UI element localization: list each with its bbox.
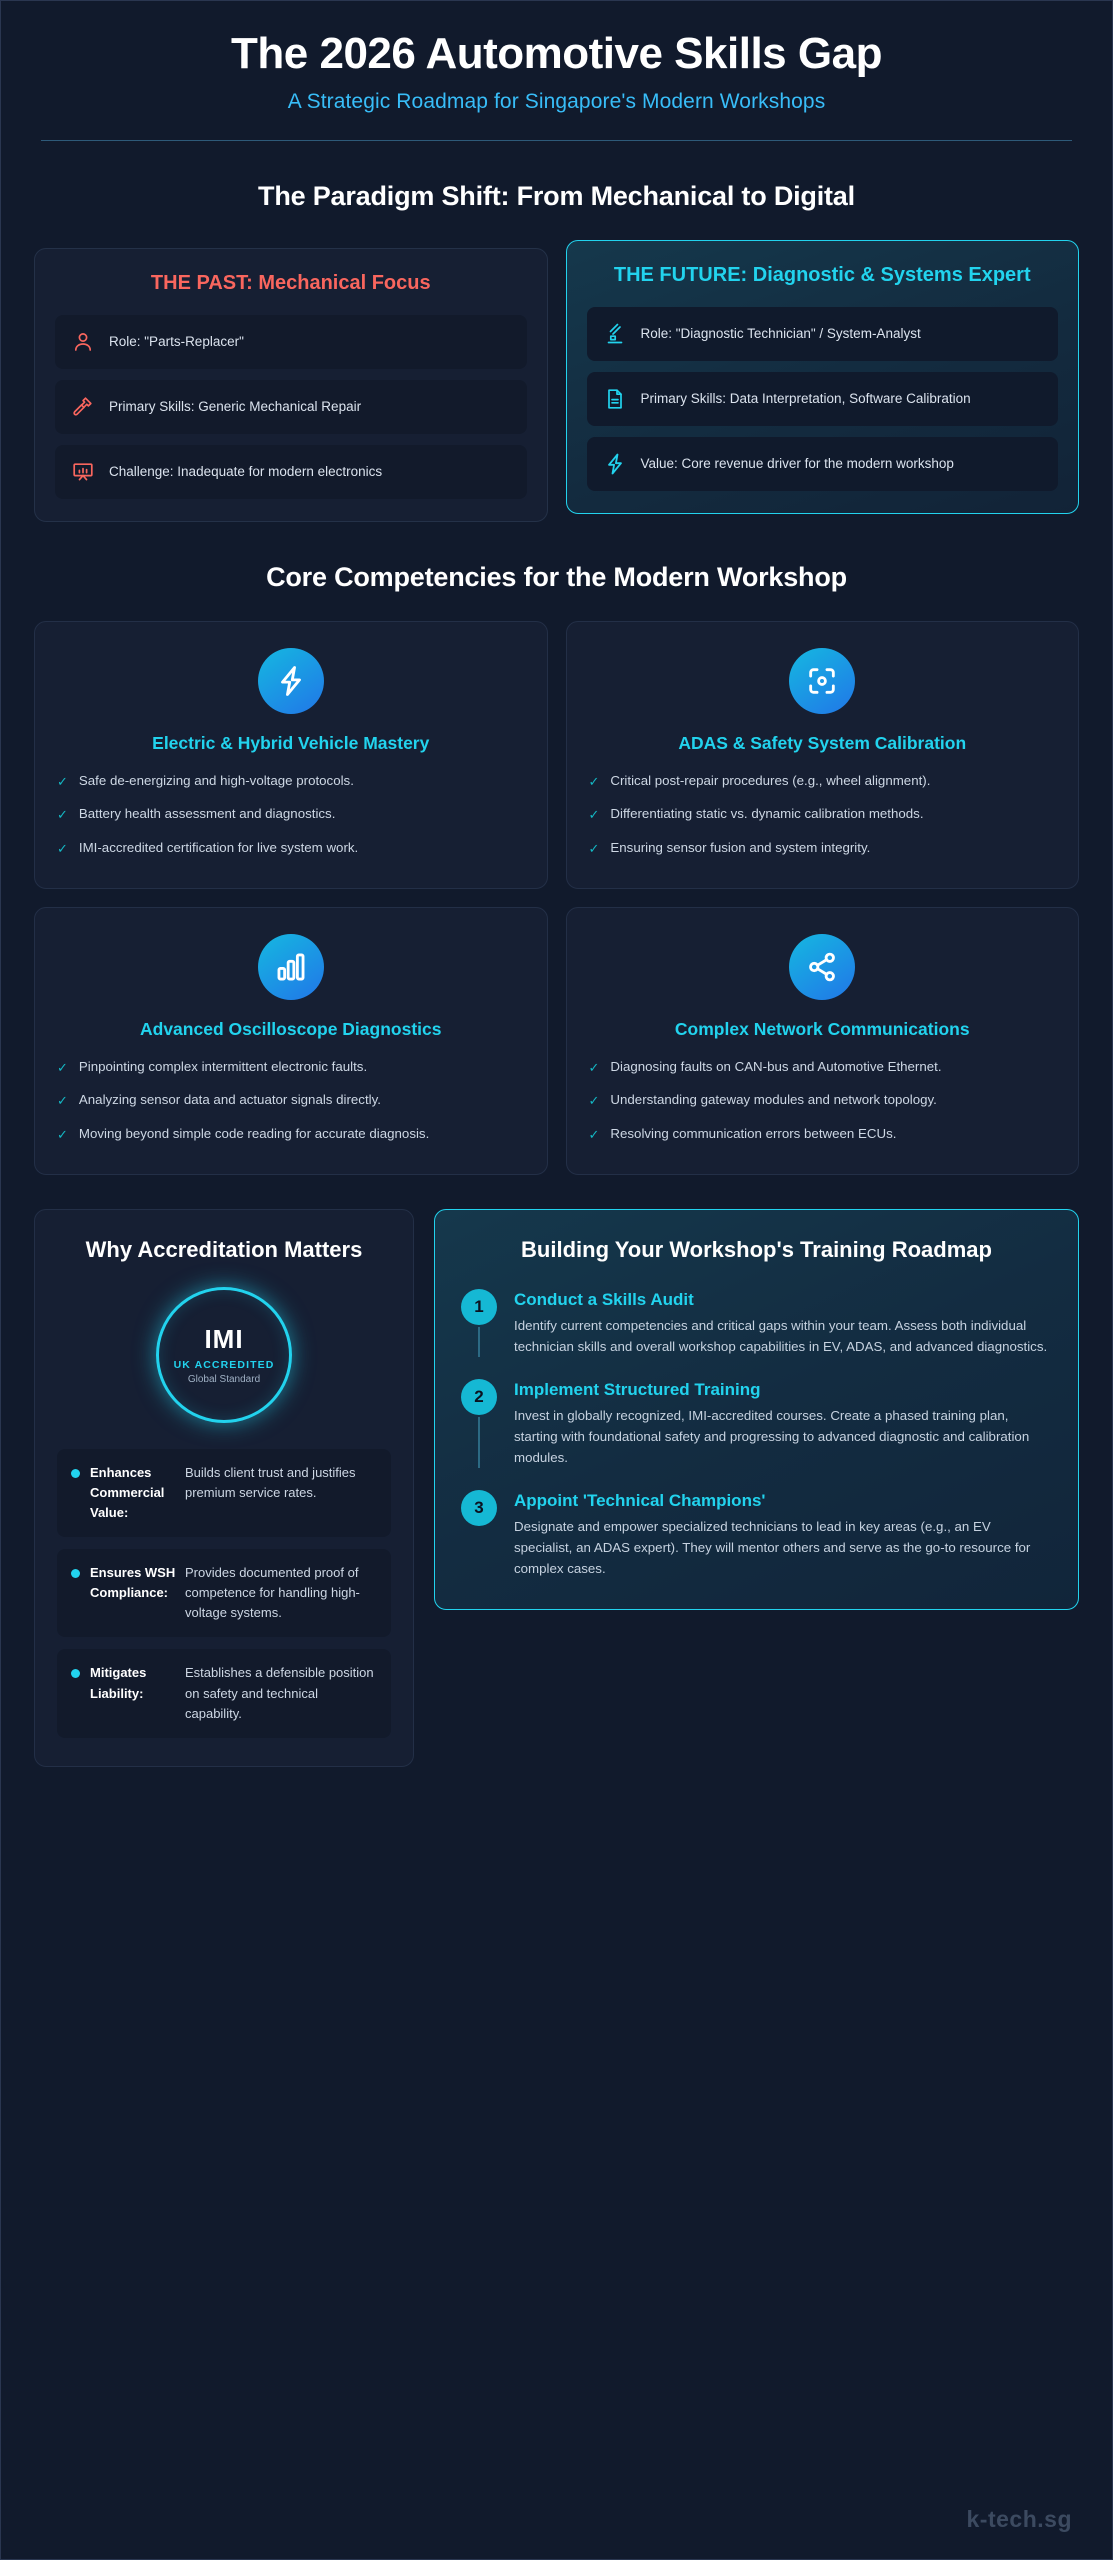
accreditation-title: Why Accreditation Matters bbox=[57, 1236, 391, 1264]
page-title: The 2026 Automotive Skills Gap bbox=[41, 29, 1072, 78]
roadmap-title: Building Your Workshop's Training Roadma… bbox=[461, 1236, 1052, 1265]
accreditation-item-label: Mitigates Liability: bbox=[90, 1663, 185, 1723]
competency-title: Electric & Hybrid Vehicle Mastery bbox=[57, 732, 525, 755]
step-title: Conduct a Skills Audit bbox=[514, 1290, 1052, 1310]
point-text: Differentiating static vs. dynamic calib… bbox=[610, 804, 923, 824]
check-icon: ✓ bbox=[589, 771, 600, 792]
paradigm-section-title: The Paradigm Shift: From Mechanical to D… bbox=[34, 181, 1079, 212]
step-description: Invest in globally recognized, IMI-accre… bbox=[514, 1405, 1052, 1468]
point-text: Understanding gateway modules and networ… bbox=[610, 1090, 936, 1110]
past-item-label: Role: "Parts-Replacer" bbox=[109, 332, 244, 351]
point-text: Diagnosing faults on CAN-bus and Automot… bbox=[610, 1057, 941, 1077]
check-icon: ✓ bbox=[57, 771, 68, 792]
future-item-role: Role: "Diagnostic Technician" / System-A… bbox=[587, 307, 1059, 361]
camera-sensor-icon bbox=[789, 648, 855, 714]
watermark: k-tech.sg bbox=[967, 2506, 1072, 2533]
header-divider bbox=[41, 140, 1072, 141]
point-text: IMI-accredited certification for live sy… bbox=[79, 838, 358, 858]
point-text: Ensuring sensor fusion and system integr… bbox=[610, 838, 870, 858]
point-text: Pinpointing complex intermittent electro… bbox=[79, 1057, 367, 1077]
accreditation-item-label: Enhances Commercial Value: bbox=[90, 1463, 185, 1523]
future-item-label: Primary Skills: Data Interpretation, Sof… bbox=[641, 389, 971, 408]
past-item-role: Role: "Parts-Replacer" bbox=[55, 315, 527, 369]
imi-badge: IMI UK ACCREDITED Global Standard bbox=[156, 1287, 292, 1423]
accreditation-item-desc: Establishes a defensible position on saf… bbox=[185, 1663, 377, 1723]
accreditation-panel: Why Accreditation Matters IMI UK ACCREDI… bbox=[34, 1209, 414, 1766]
check-icon: ✓ bbox=[589, 1124, 600, 1145]
future-item-label: Value: Core revenue driver for the moder… bbox=[641, 454, 954, 473]
competency-card-adas: ADAS & Safety System Calibration ✓Critic… bbox=[566, 621, 1080, 889]
check-icon: ✓ bbox=[589, 1090, 600, 1111]
step-connector bbox=[478, 1327, 480, 1357]
document-icon bbox=[603, 387, 627, 411]
bullet-dot-icon bbox=[71, 1569, 80, 1578]
list-item: ✓Pinpointing complex intermittent electr… bbox=[57, 1057, 525, 1078]
bottom-row: Why Accreditation Matters IMI UK ACCREDI… bbox=[34, 1209, 1079, 1766]
bolt-icon bbox=[603, 452, 627, 476]
accreditation-item: Ensures WSH Compliance: Provides documen… bbox=[57, 1549, 391, 1637]
competencies-section-title: Core Competencies for the Modern Worksho… bbox=[34, 562, 1079, 593]
competency-points: ✓Safe de-energizing and high-voltage pro… bbox=[57, 771, 525, 859]
step-title: Appoint 'Technical Champions' bbox=[514, 1491, 1052, 1511]
past-item-skills: Primary Skills: Generic Mechanical Repai… bbox=[55, 380, 527, 434]
competency-points: ✓Diagnosing faults on CAN-bus and Automo… bbox=[589, 1057, 1057, 1145]
microscope-icon bbox=[603, 322, 627, 346]
point-text: Moving beyond simple code reading for ac… bbox=[79, 1124, 429, 1144]
header: The 2026 Automotive Skills Gap A Strateg… bbox=[1, 1, 1112, 141]
step-number: 1 bbox=[461, 1289, 497, 1325]
check-icon: ✓ bbox=[57, 1090, 68, 1111]
list-item: ✓Diagnosing faults on CAN-bus and Automo… bbox=[589, 1057, 1057, 1078]
roadmap-step-3: 3 Appoint 'Technical Champions' Designat… bbox=[461, 1490, 1052, 1579]
competency-title: ADAS & Safety System Calibration bbox=[589, 732, 1057, 755]
check-icon: ✓ bbox=[57, 804, 68, 825]
competency-card-ev: Electric & Hybrid Vehicle Mastery ✓Safe … bbox=[34, 621, 548, 889]
user-icon bbox=[71, 330, 95, 354]
competency-title: Complex Network Communications bbox=[589, 1018, 1057, 1041]
competency-card-network: Complex Network Communications ✓Diagnosi… bbox=[566, 907, 1080, 1175]
step-number: 2 bbox=[461, 1379, 497, 1415]
future-card: THE FUTURE: Diagnostic & Systems Expert … bbox=[566, 240, 1080, 514]
accreditation-item-label: Ensures WSH Compliance: bbox=[90, 1563, 185, 1623]
competency-card-oscilloscope: Advanced Oscilloscope Diagnostics ✓Pinpo… bbox=[34, 907, 548, 1175]
list-item: ✓Battery health assessment and diagnosti… bbox=[57, 804, 525, 825]
check-icon: ✓ bbox=[589, 838, 600, 859]
competencies-grid: Electric & Hybrid Vehicle Mastery ✓Safe … bbox=[34, 621, 1079, 1176]
future-card-title: THE FUTURE: Diagnostic & Systems Expert bbox=[587, 263, 1059, 289]
past-item-label: Challenge: Inadequate for modern electro… bbox=[109, 462, 382, 481]
competency-points: ✓Critical post-repair procedures (e.g., … bbox=[589, 771, 1057, 859]
check-icon: ✓ bbox=[57, 1124, 68, 1145]
accreditation-item-desc: Provides documented proof of competence … bbox=[185, 1563, 377, 1623]
list-item: ✓Critical post-repair procedures (e.g., … bbox=[589, 771, 1057, 792]
page-subtitle: A Strategic Roadmap for Singapore's Mode… bbox=[41, 90, 1072, 114]
past-item-challenge: Challenge: Inadequate for modern electro… bbox=[55, 445, 527, 499]
list-item: ✓Ensuring sensor fusion and system integ… bbox=[589, 838, 1057, 859]
point-text: Analyzing sensor data and actuator signa… bbox=[79, 1090, 381, 1110]
bolt-icon bbox=[258, 648, 324, 714]
past-card: THE PAST: Mechanical Focus Role: "Parts-… bbox=[34, 248, 548, 522]
infographic-page: The 2026 Automotive Skills Gap A Strateg… bbox=[0, 0, 1113, 2560]
roadmap-panel: Building Your Workshop's Training Roadma… bbox=[434, 1209, 1079, 1610]
check-icon: ✓ bbox=[589, 1057, 600, 1078]
future-item-label: Role: "Diagnostic Technician" / System-A… bbox=[641, 324, 921, 343]
point-text: Critical post-repair procedures (e.g., w… bbox=[610, 771, 930, 791]
list-item: ✓Analyzing sensor data and actuator sign… bbox=[57, 1090, 525, 1111]
bullet-dot-icon bbox=[71, 1669, 80, 1678]
step-number: 3 bbox=[461, 1490, 497, 1526]
step-connector bbox=[478, 1417, 480, 1468]
hammer-icon bbox=[71, 395, 95, 419]
list-item: ✓Differentiating static vs. dynamic cali… bbox=[589, 804, 1057, 825]
list-item: ✓IMI-accredited certification for live s… bbox=[57, 838, 525, 859]
badge-line-1: IMI bbox=[204, 1324, 243, 1355]
accreditation-item: Mitigates Liability: Establishes a defen… bbox=[57, 1649, 391, 1737]
point-text: Safe de-energizing and high-voltage prot… bbox=[79, 771, 354, 791]
past-item-label: Primary Skills: Generic Mechanical Repai… bbox=[109, 397, 361, 416]
step-title: Implement Structured Training bbox=[514, 1380, 1052, 1400]
share-network-icon bbox=[789, 934, 855, 1000]
step-description: Identify current competencies and critic… bbox=[514, 1315, 1052, 1357]
accreditation-item: Enhances Commercial Value: Builds client… bbox=[57, 1449, 391, 1537]
step-description: Designate and empower specialized techni… bbox=[514, 1516, 1052, 1579]
past-card-title: THE PAST: Mechanical Focus bbox=[55, 271, 527, 297]
list-item: ✓Safe de-energizing and high-voltage pro… bbox=[57, 771, 525, 792]
roadmap-step-1: 1 Conduct a Skills Audit Identify curren… bbox=[461, 1289, 1052, 1379]
list-item: ✓Resolving communication errors between … bbox=[589, 1124, 1057, 1145]
check-icon: ✓ bbox=[589, 804, 600, 825]
competency-title: Advanced Oscilloscope Diagnostics bbox=[57, 1018, 525, 1041]
list-item: ✓Moving beyond simple code reading for a… bbox=[57, 1124, 525, 1145]
future-item-value: Value: Core revenue driver for the moder… bbox=[587, 437, 1059, 491]
paradigm-shift-row: THE PAST: Mechanical Focus Role: "Parts-… bbox=[34, 240, 1079, 522]
point-text: Resolving communication errors between E… bbox=[610, 1124, 896, 1144]
badge-line-3: Global Standard bbox=[188, 1374, 260, 1385]
competency-points: ✓Pinpointing complex intermittent electr… bbox=[57, 1057, 525, 1145]
bar-chart-icon bbox=[258, 934, 324, 1000]
bullet-dot-icon bbox=[71, 1469, 80, 1478]
roadmap-step-2: 2 Implement Structured Training Invest i… bbox=[461, 1379, 1052, 1490]
list-item: ✓Understanding gateway modules and netwo… bbox=[589, 1090, 1057, 1111]
check-icon: ✓ bbox=[57, 838, 68, 859]
check-icon: ✓ bbox=[57, 1057, 68, 1078]
future-item-skills: Primary Skills: Data Interpretation, Sof… bbox=[587, 372, 1059, 426]
accreditation-item-desc: Builds client trust and justifies premiu… bbox=[185, 1463, 377, 1523]
point-text: Battery health assessment and diagnostic… bbox=[79, 804, 335, 824]
badge-line-2: UK ACCREDITED bbox=[174, 1359, 275, 1371]
presentation-chart-icon bbox=[71, 460, 95, 484]
